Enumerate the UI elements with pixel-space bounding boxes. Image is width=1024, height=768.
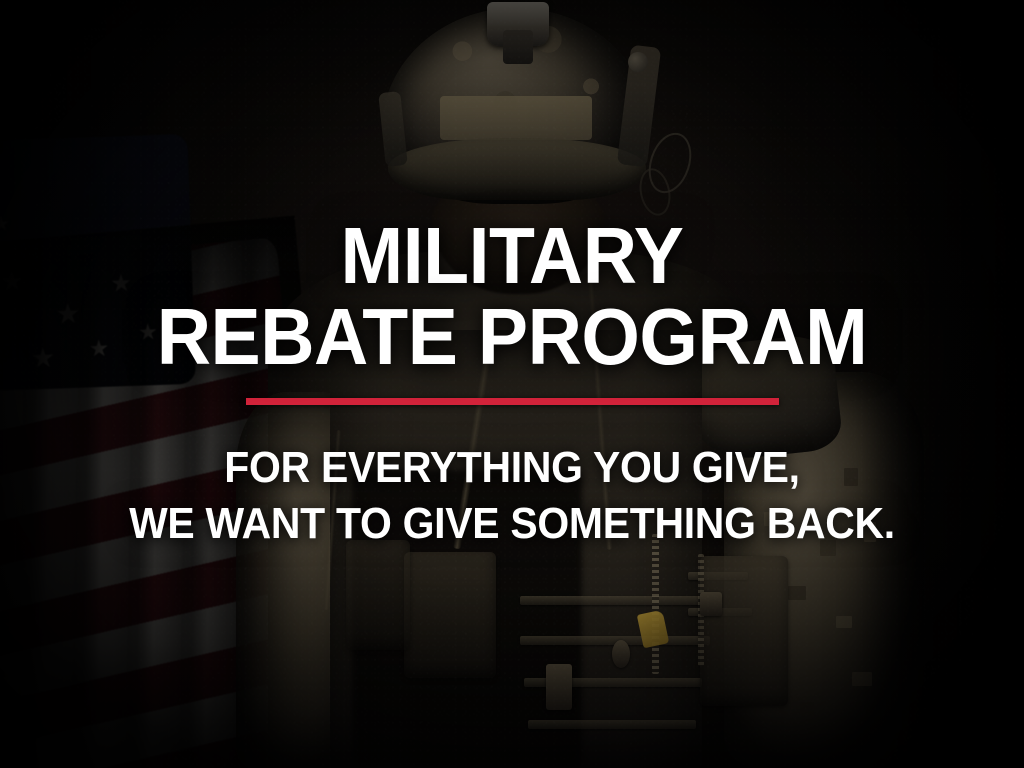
subtitle-line-1: FOR EVERYTHING YOU GIVE, <box>36 443 988 492</box>
headline-line-2: REBATE PROGRAM <box>31 297 994 376</box>
subtitle-line-2: WE WANT TO GIVE SOMETHING BACK. <box>36 499 988 548</box>
red-divider-rule <box>246 398 779 405</box>
text-overlay: MILITARY REBATE PROGRAM FOR EVERYTHING Y… <box>0 0 1024 768</box>
military-rebate-banner: ★ ★ ★ ★ ★ ★ ★ ★ ★ ★ <box>0 0 1024 768</box>
headline-line-1: MILITARY <box>31 216 994 295</box>
